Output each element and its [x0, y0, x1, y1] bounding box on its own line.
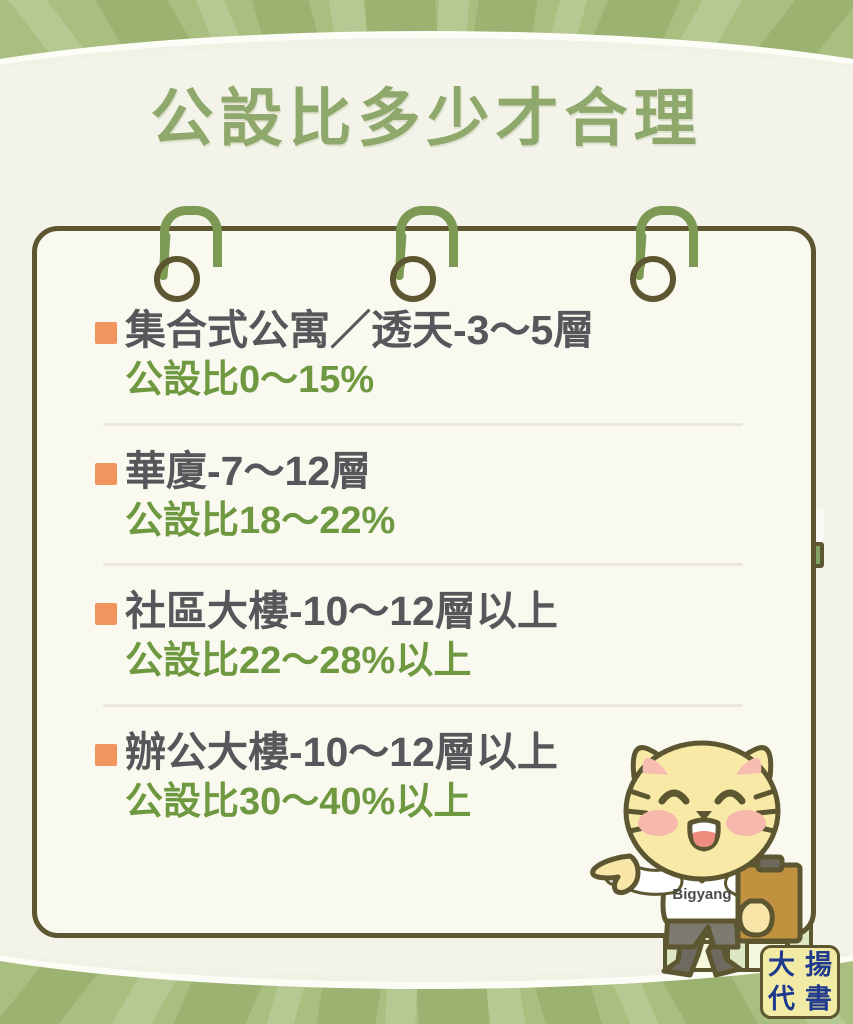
binding-ring	[390, 206, 448, 290]
list-item: 華廈-7～12層公設比18～22%	[67, 446, 771, 546]
page-title: 公設比多少才合理	[0, 88, 853, 151]
item-ratio: 公設比22～28%以上	[125, 638, 771, 686]
bullet-icon	[95, 463, 117, 485]
mascot-shirt-text: Bigyang	[672, 886, 731, 903]
item-title: 社區大樓-10～12層以上	[125, 586, 771, 636]
item-title: 華廈-7～12層	[125, 446, 771, 496]
item-ratio: 公設比18～22%	[125, 498, 771, 546]
cat-mascot-svg: Bigyang	[586, 735, 848, 980]
bullet-icon	[95, 603, 117, 625]
ring-loop	[154, 256, 200, 302]
logo-char-1: 大	[763, 948, 800, 982]
list-divider	[103, 704, 743, 707]
brand-logo[interactable]: 大 揚 代 書	[760, 945, 840, 1019]
item-ratio: 公設比0～15%	[125, 357, 771, 405]
logo-char-3: 代	[763, 982, 800, 1016]
logo-char-4: 書	[800, 982, 837, 1016]
binding-ring	[630, 206, 688, 290]
ring-loop	[630, 256, 676, 302]
logo-char-2: 揚	[800, 948, 837, 982]
spiral-binding	[32, 206, 816, 296]
binding-ring	[154, 206, 212, 290]
list-divider	[103, 563, 743, 566]
poster-root: 公設比多少才合理 Bigyang Bigyang 集合式公寓／透天-3～5層公設…	[0, 0, 853, 1024]
bullet-icon	[95, 322, 117, 344]
list-item: 社區大樓-10～12層以上公設比22～28%以上	[67, 586, 771, 686]
bullet-icon	[95, 744, 117, 766]
cat-mascot: Bigyang	[586, 735, 848, 980]
list-item: 集合式公寓／透天-3～5層公設比0～15%	[67, 305, 771, 405]
item-title: 集合式公寓／透天-3～5層	[125, 305, 771, 355]
list-divider	[103, 423, 743, 426]
ring-loop	[390, 256, 436, 302]
